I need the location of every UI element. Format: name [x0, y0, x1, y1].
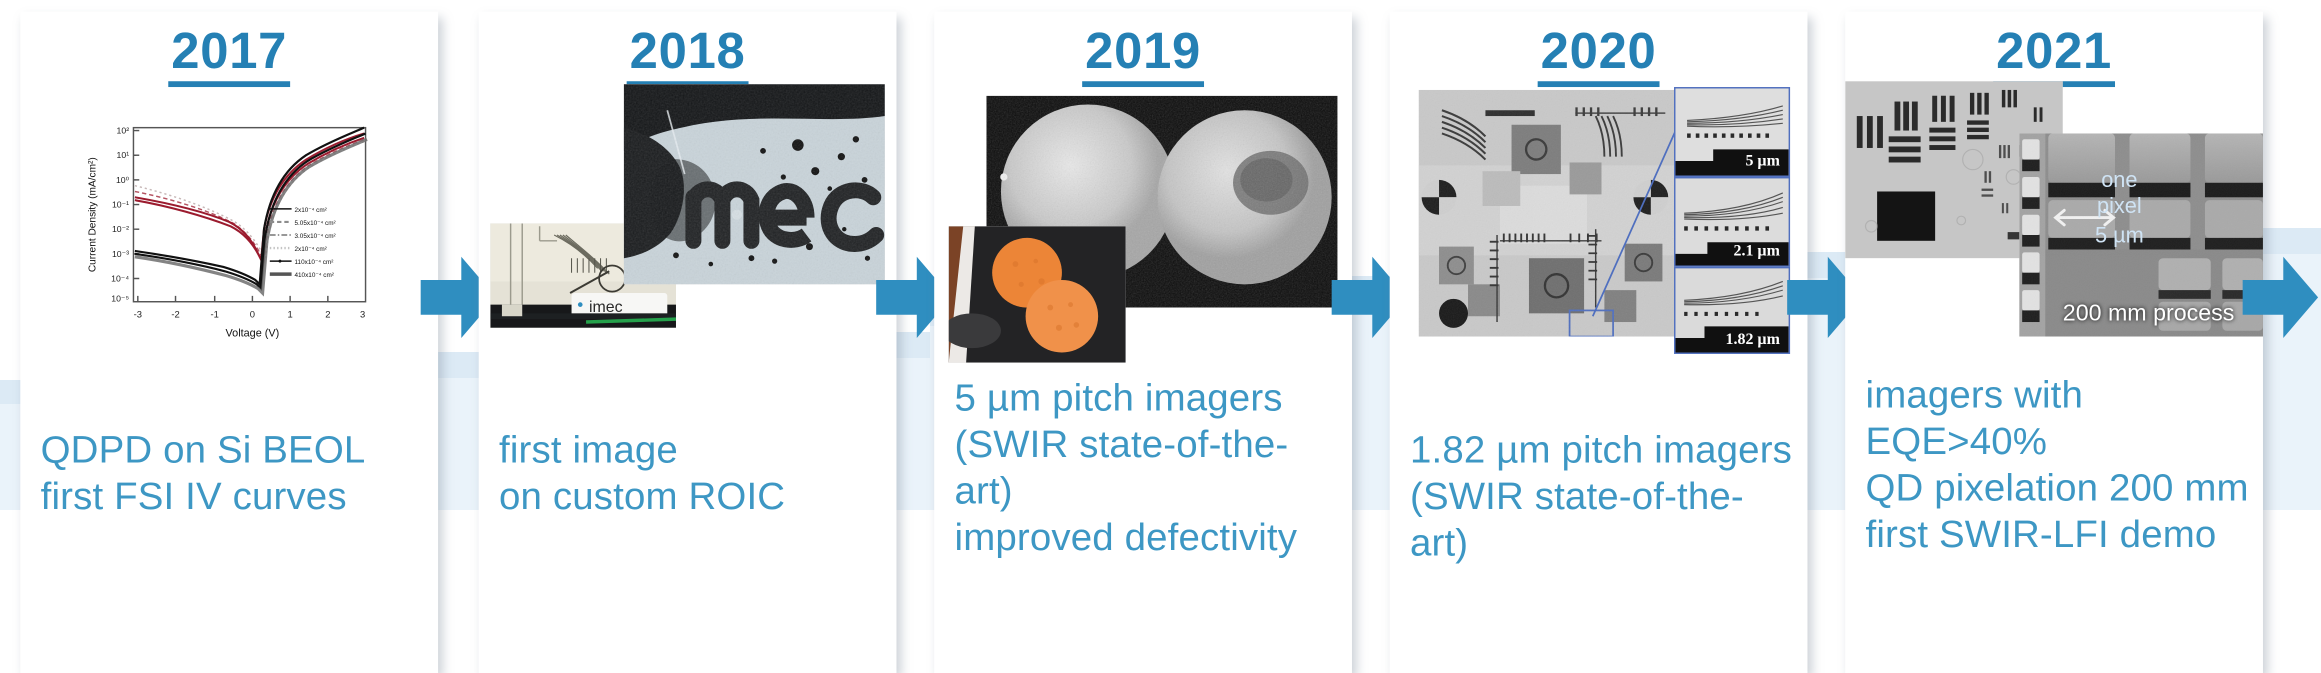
svg-text:Voltage (V): Voltage (V) — [226, 328, 280, 340]
year-heading-2019: 2019 — [934, 23, 1352, 81]
sem-pixel-array-image: one pixel 5 µm 200 mm process — [2019, 133, 2263, 336]
timeline-infographic: 2017 10²10¹ 10⁰10⁻¹ 10⁻²10⁻³ 10⁻⁴10⁻⁵ — [0, 0, 2321, 510]
card-caption-2021: imagers with EQE>40% QD pixelation 200 m… — [1866, 371, 2255, 557]
svg-text:3.05x10⁻⁴ cm²: 3.05x10⁻⁴ cm² — [294, 233, 335, 240]
zoom-thumbnail-2p1um: 2.1 µm — [1674, 177, 1790, 267]
svg-text:5.05x10⁻⁴ cm²: 5.05x10⁻⁴ cm² — [294, 220, 335, 227]
iv-curve-chart: 10²10¹ 10⁰10⁻¹ 10⁻²10⁻³ 10⁻⁴10⁻⁵ -3-2 — [81, 116, 386, 345]
svg-text:10⁻⁵: 10⁻⁵ — [111, 294, 129, 304]
svg-text:10⁰: 10⁰ — [116, 175, 130, 185]
svg-text:10⁻⁴: 10⁻⁴ — [111, 273, 129, 283]
pixel-pitch-label: 5 µm — [2074, 223, 2164, 249]
orange-cookies-photo — [949, 226, 1126, 362]
imec-swir-image — [624, 84, 885, 284]
svg-text:1: 1 — [288, 309, 293, 320]
svg-text:3: 3 — [360, 309, 365, 320]
timeline-card-2021[interactable]: 2021 — [1845, 12, 2263, 673]
timeline-card-2017[interactable]: 2017 10²10¹ 10⁰10⁻¹ 10⁻²10⁻³ 10⁻⁴10⁻⁵ — [20, 12, 438, 673]
svg-text:10⁻³: 10⁻³ — [112, 249, 129, 259]
svg-text:imec: imec — [589, 299, 623, 316]
svg-text:110x10⁻⁴ cm²: 110x10⁻⁴ cm² — [294, 259, 333, 266]
card-caption-2019: 5 µm pitch imagers (SWIR state-of-the-ar… — [955, 374, 1344, 560]
svg-text:Current Density (mA/cm²): Current Density (mA/cm²) — [88, 157, 99, 272]
timeline-card-2018[interactable]: 2018 — [479, 12, 897, 673]
one-pixel-label: one pixel — [2083, 168, 2156, 220]
svg-text:410x10⁻⁴ cm²: 410x10⁻⁴ cm² — [294, 272, 333, 279]
arrow-after-2021 — [2240, 252, 2321, 342]
year-heading-2017: 2017 — [20, 23, 438, 81]
svg-text:2: 2 — [325, 309, 330, 320]
year-heading-2018: 2018 — [479, 23, 897, 81]
year-heading-2020: 2020 — [1390, 23, 1808, 81]
timeline-card-2020[interactable]: 2020 — [1390, 12, 1808, 673]
zoom-thumbnail-1p82um: 1.82 µm — [1674, 267, 1790, 354]
process-node-label: 200 mm process — [2063, 303, 2235, 325]
svg-text:10²: 10² — [117, 125, 130, 135]
zoom-thumbnail-5um: 5 µm — [1674, 87, 1790, 177]
svg-text:10⁻¹: 10⁻¹ — [112, 199, 129, 209]
svg-text:0: 0 — [250, 309, 255, 320]
card-caption-2020: 1.82 µm pitch imagers (SWIR state-of-the… — [1410, 426, 1799, 565]
svg-text:-2: -2 — [171, 309, 179, 320]
svg-text:10¹: 10¹ — [117, 150, 130, 160]
svg-text:10⁻²: 10⁻² — [112, 224, 129, 234]
svg-text:-3: -3 — [134, 309, 142, 320]
scale-label-1p82um: 1.82 µm — [1720, 328, 1786, 351]
scale-label-5um: 5 µm — [1740, 149, 1786, 172]
card-caption-2017: QDPD on Si BEOL first FSI IV curves — [41, 426, 430, 519]
card-caption-2018: first image on custom ROIC — [499, 426, 888, 519]
timeline-row: 2017 10²10¹ 10⁰10⁻¹ 10⁻²10⁻³ 10⁻⁴10⁻⁵ — [0, 0, 2321, 510]
year-heading-2021: 2021 — [1845, 23, 2263, 81]
timeline-card-2019[interactable]: 2019 — [934, 12, 1352, 673]
svg-text:-1: -1 — [211, 309, 219, 320]
scale-label-2p1um: 2.1 µm — [1728, 239, 1786, 262]
svg-text:2x10⁻⁴ cm²: 2x10⁻⁴ cm² — [294, 207, 326, 214]
svg-text:2x10⁻⁴ cm²: 2x10⁻⁴ cm² — [294, 246, 326, 253]
